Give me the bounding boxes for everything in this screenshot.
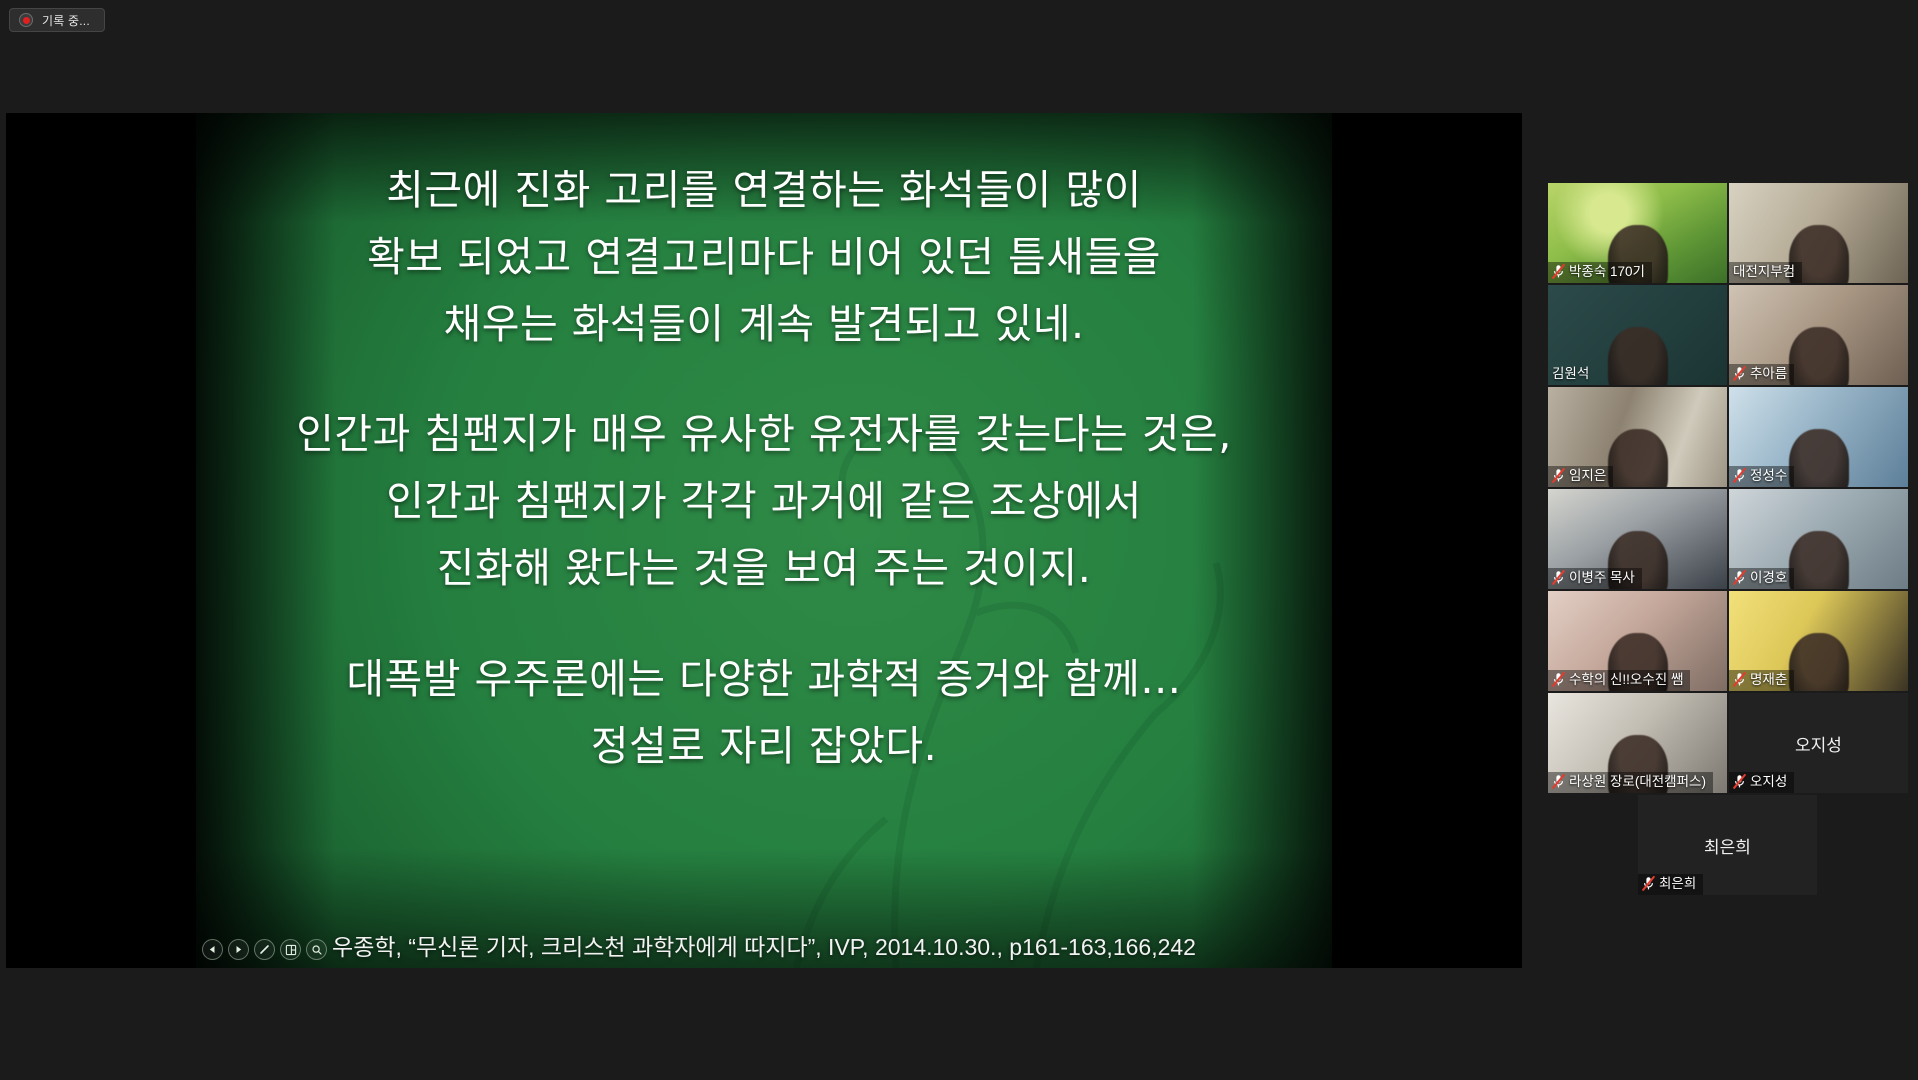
participant-tile[interactable]: 김원석 — [1548, 285, 1727, 385]
participant-name-chip: 라상원 장로(대전캠퍼스) — [1548, 772, 1713, 793]
participant-tile[interactable]: 최은희최은희 — [1638, 795, 1817, 895]
participant-name-label: 박종숙 170기 — [1569, 263, 1645, 281]
slide-line: 인간과 침팬지가 매우 유사한 유전자를 갖는다는 것은, — [220, 401, 1308, 468]
video-person-silhouette — [1789, 429, 1849, 487]
participant-tile[interactable]: 오지성오지성 — [1729, 693, 1908, 793]
video-person-silhouette — [1608, 327, 1668, 385]
participant-name-label: 추아름 — [1750, 365, 1787, 383]
participant-name-chip: 임지은 — [1548, 466, 1613, 487]
recording-label: 기록 중... — [42, 12, 90, 29]
slide-citation: 우종학, “무신론 기자, 크리스천 과학자에게 따지다”, IVP, 2014… — [196, 928, 1332, 962]
participant-row: 임지은정성수 — [1548, 387, 1908, 487]
microphone-muted-icon — [1552, 570, 1565, 585]
video-person-silhouette — [1789, 327, 1849, 385]
microphone-muted-icon — [1733, 366, 1746, 381]
participant-name-chip: 박종숙 170기 — [1548, 262, 1652, 283]
microphone-muted-icon — [1552, 672, 1565, 687]
recording-indicator[interactable]: 기록 중... — [9, 8, 105, 32]
slideshow-toolbar[interactable] — [202, 939, 327, 960]
video-person-silhouette — [1789, 633, 1849, 691]
participant-tile[interactable]: 박종숙 170기 — [1548, 183, 1727, 283]
participant-name-chip: 명재춘 — [1729, 670, 1794, 691]
microphone-muted-icon — [1642, 876, 1655, 891]
previous-slide-button[interactable] — [202, 939, 223, 960]
slide-line: 최근에 진화 고리를 연결하는 화석들이 많이 — [220, 157, 1308, 224]
participant-tile[interactable]: 추아름 — [1729, 285, 1908, 385]
participant-name-label: 최은희 — [1659, 875, 1696, 893]
participant-row: 이병주 목사이경호 — [1548, 489, 1908, 589]
microphone-muted-icon — [1552, 774, 1565, 789]
shared-screen-area: 최근에 진화 고리를 연결하는 화석들이 많이확보 되었고 연결고리마다 비어 … — [6, 113, 1522, 968]
participant-tile[interactable]: 라상원 장로(대전캠퍼스) — [1548, 693, 1727, 793]
participant-tile[interactable]: 이병주 목사 — [1548, 489, 1727, 589]
slide-paragraph: 최근에 진화 고리를 연결하는 화석들이 많이확보 되었고 연결고리마다 비어 … — [196, 157, 1332, 357]
participant-tile[interactable]: 대전지부컴 — [1729, 183, 1908, 283]
video-person-silhouette — [1789, 531, 1849, 589]
participant-name-chip: 최은희 — [1638, 874, 1703, 895]
participant-name-label: 라상원 장로(대전캠퍼스) — [1569, 773, 1706, 791]
video-person-silhouette — [1608, 429, 1668, 487]
participant-row: 김원석추아름 — [1548, 285, 1908, 385]
participant-name-label: 오지성 — [1750, 773, 1787, 791]
microphone-muted-icon — [1733, 570, 1746, 585]
presentation-slide: 최근에 진화 고리를 연결하는 화석들이 많이확보 되었고 연결고리마다 비어 … — [196, 113, 1332, 968]
participant-name-label: 김원석 — [1552, 365, 1589, 383]
magnifier-button[interactable] — [306, 939, 327, 960]
participant-tile[interactable]: 수학의 신!!오수진 쌤 — [1548, 591, 1727, 691]
participant-tile[interactable]: 임지은 — [1548, 387, 1727, 487]
microphone-muted-icon — [1733, 468, 1746, 483]
slide-paragraph: 인간과 침팬지가 매우 유사한 유전자를 갖는다는 것은,인간과 침팬지가 각각… — [196, 401, 1332, 601]
participant-tile[interactable]: 명재춘 — [1729, 591, 1908, 691]
participant-tile[interactable]: 정성수 — [1729, 387, 1908, 487]
participant-name-chip: 이병주 목사 — [1548, 568, 1642, 589]
microphone-muted-icon — [1733, 672, 1746, 687]
microphone-muted-icon — [1552, 264, 1565, 279]
participant-filmstrip[interactable]: 박종숙 170기대전지부컴김원석추아름임지은정성수이병주 목사이경호수학의 신!… — [1539, 0, 1918, 1080]
slide-line: 진화해 왔다는 것을 보여 주는 것이지. — [220, 535, 1308, 602]
participant-name-chip: 김원석 — [1548, 364, 1596, 385]
participant-name-label: 수학의 신!!오수진 쌤 — [1569, 671, 1683, 689]
pen-annotation-button[interactable] — [254, 939, 275, 960]
slide-line: 채우는 화석들이 계속 발견되고 있네. — [220, 291, 1308, 358]
participant-name-label: 대전지부컴 — [1733, 263, 1795, 281]
participant-grid: 박종숙 170기대전지부컴김원석추아름임지은정성수이병주 목사이경호수학의 신!… — [1548, 183, 1908, 895]
participant-name-chip: 오지성 — [1729, 772, 1794, 793]
slide-line: 확보 되었고 연결고리마다 비어 있던 틈새들을 — [220, 224, 1308, 291]
participant-row: 라상원 장로(대전캠퍼스)오지성오지성 — [1548, 693, 1908, 793]
participant-name-label: 명재춘 — [1750, 671, 1787, 689]
participant-name-chip: 정성수 — [1729, 466, 1794, 487]
participant-name-label: 이경호 — [1750, 569, 1787, 587]
record-dot-icon — [19, 13, 33, 27]
slide-line: 인간과 침팬지가 각각 과거에 같은 조상에서 — [220, 468, 1308, 535]
participant-row: 수학의 신!!오수진 쌤명재춘 — [1548, 591, 1908, 691]
microphone-muted-icon — [1552, 468, 1565, 483]
layout-grid-button[interactable] — [280, 939, 301, 960]
microphone-muted-icon — [1733, 774, 1746, 789]
participant-name-chip: 대전지부컴 — [1729, 262, 1802, 283]
slide-line: 대폭발 우주론에는 다양한 과학적 증거와 함께… — [220, 646, 1308, 713]
participant-name-chip: 이경호 — [1729, 568, 1794, 589]
participant-name-label: 임지은 — [1569, 467, 1606, 485]
participant-name-label: 이병주 목사 — [1569, 569, 1635, 587]
participant-tile[interactable]: 이경호 — [1729, 489, 1908, 589]
participant-name-chip: 추아름 — [1729, 364, 1794, 385]
participant-row: 박종숙 170기대전지부컴 — [1548, 183, 1908, 283]
slide-paragraph: 대폭발 우주론에는 다양한 과학적 증거와 함께…정설로 자리 잡았다. — [196, 646, 1332, 780]
next-slide-button[interactable] — [228, 939, 249, 960]
participant-name-chip: 수학의 신!!오수진 쌤 — [1548, 670, 1690, 691]
participant-name-label: 정성수 — [1750, 467, 1787, 485]
slide-text-body: 최근에 진화 고리를 연결하는 화석들이 많이확보 되었고 연결고리마다 비어 … — [196, 157, 1332, 780]
slide-line: 정설로 자리 잡았다. — [220, 713, 1308, 780]
participant-row: 최은희최은희 — [1638, 795, 1908, 895]
